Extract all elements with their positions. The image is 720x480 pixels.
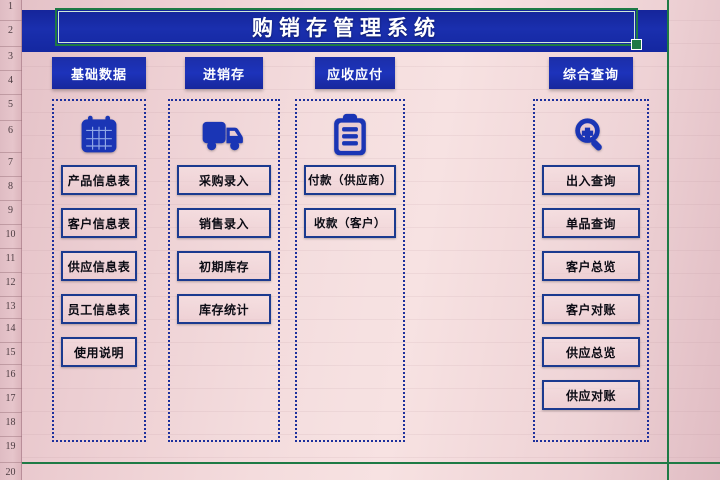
column-header-receivable-payable[interactable]: 应收应付 (315, 57, 395, 89)
menu-button-receipt-customer[interactable]: 收款（客户） (304, 208, 396, 238)
row-number[interactable]: 20 (0, 468, 21, 478)
row-number[interactable]: 16 (0, 370, 21, 380)
menu-button-purchase-entry[interactable]: 采购录入 (177, 165, 271, 195)
menu-button-payment-supplier[interactable]: 付款（供应商） (304, 165, 396, 195)
row-header-gutter[interactable]: 1234567891011121314151617181920 (0, 0, 22, 480)
menu-button-supplier-info[interactable]: 供应信息表 (61, 251, 137, 281)
row-separator (0, 46, 22, 47)
print-area-guide-horizontal (22, 462, 720, 464)
row-separator (0, 248, 22, 249)
column-receivable-payable: 应收应付 付款（供应商） 收款（客户） (315, 57, 395, 89)
menu-button-employee-info[interactable]: 员工信息表 (61, 294, 137, 324)
row-separator (0, 70, 22, 71)
row-separator (0, 436, 22, 437)
row-separator (0, 364, 22, 365)
row-number[interactable]: 18 (0, 418, 21, 428)
row-separator (0, 152, 22, 153)
row-number[interactable]: 1 (0, 2, 21, 12)
button-list-basic-data: 产品信息表 客户信息表 供应信息表 员工信息表 使用说明 (54, 163, 144, 367)
row-number[interactable]: 4 (0, 76, 21, 86)
column-header-inventory[interactable]: 进销存 (185, 57, 263, 89)
column-inventory: 进销存 采购录入 销售录入 初期库存 库存统计 (185, 57, 263, 89)
row-separator (0, 462, 22, 463)
truck-icon (170, 107, 278, 163)
menu-button-stock-statistics[interactable]: 库存统计 (177, 294, 271, 324)
menu-button-inout-query[interactable]: 出入查询 (542, 165, 640, 195)
menu-button-product-info[interactable]: 产品信息表 (61, 165, 137, 195)
menu-button-supplier-reconciliation[interactable]: 供应对账 (542, 380, 640, 410)
page-title: 购销存管理系统 (55, 8, 638, 46)
button-list-receivable-payable: 付款（供应商） 收款（客户） (297, 163, 403, 238)
row-number[interactable]: 8 (0, 182, 21, 192)
row-number[interactable]: 15 (0, 348, 21, 358)
row-separator (0, 342, 22, 343)
calendar-icon (54, 107, 144, 163)
row-number[interactable]: 19 (0, 442, 21, 452)
menu-button-opening-stock[interactable]: 初期库存 (177, 251, 271, 281)
row-number[interactable]: 14 (0, 324, 21, 334)
row-separator (0, 224, 22, 225)
column-header-reports[interactable]: 综合查询 (549, 57, 633, 89)
row-number[interactable]: 7 (0, 158, 21, 168)
menu-button-supplier-overview[interactable]: 供应总览 (542, 337, 640, 367)
row-number[interactable]: 6 (0, 126, 21, 136)
menu-button-customer-info[interactable]: 客户信息表 (61, 208, 137, 238)
menu-button-sales-entry[interactable]: 销售录入 (177, 208, 271, 238)
row-number[interactable]: 12 (0, 278, 21, 288)
column-panel-receivable-payable: 付款（供应商） 收款（客户） (295, 99, 405, 442)
row-separator (0, 388, 22, 389)
row-number[interactable]: 5 (0, 100, 21, 110)
row-number[interactable]: 13 (0, 302, 21, 312)
row-number[interactable]: 11 (0, 254, 21, 264)
row-number[interactable]: 17 (0, 394, 21, 404)
row-number[interactable]: 10 (0, 230, 21, 240)
menu-button-instructions[interactable]: 使用说明 (61, 337, 137, 367)
column-header-basic-data[interactable]: 基础数据 (52, 57, 146, 89)
row-separator (0, 412, 22, 413)
row-separator (0, 120, 22, 121)
row-separator (0, 296, 22, 297)
clipboard-icon (297, 107, 403, 163)
row-number[interactable]: 3 (0, 52, 21, 62)
menu-button-customer-overview[interactable]: 客户总览 (542, 251, 640, 281)
row-separator (0, 200, 22, 201)
row-number[interactable]: 9 (0, 206, 21, 216)
row-separator (0, 20, 22, 21)
column-panel-reports: 出入查询 单品查询 客户总览 客户对账 供应总览 供应对账 (533, 99, 649, 442)
column-reports: 综合查询 出入查询 单品查询 客户总览 客户对账 供应总览 供应对账 (549, 57, 633, 89)
magnifier-zoom-in-icon (535, 107, 647, 163)
row-separator (0, 176, 22, 177)
column-basic-data: 基础数据 产品信息表 (52, 57, 146, 89)
column-panel-basic-data: 产品信息表 客户信息表 供应信息表 员工信息表 使用说明 (52, 99, 146, 442)
worksheet-canvas: 1234567891011121314151617181920 购销存管理系统 … (0, 0, 720, 480)
row-separator (0, 318, 22, 319)
menu-button-item-query[interactable]: 单品查询 (542, 208, 640, 238)
menu-button-customer-reconciliation[interactable]: 客户对账 (542, 294, 640, 324)
row-number[interactable]: 2 (0, 26, 21, 36)
row-separator (0, 272, 22, 273)
column-panel-inventory: 采购录入 销售录入 初期库存 库存统计 (168, 99, 280, 442)
button-list-inventory: 采购录入 销售录入 初期库存 库存统计 (170, 163, 278, 324)
print-area-guide-vertical (667, 0, 669, 480)
button-list-reports: 出入查询 单品查询 客户总览 客户对账 供应总览 供应对账 (535, 163, 647, 410)
row-separator (0, 94, 22, 95)
